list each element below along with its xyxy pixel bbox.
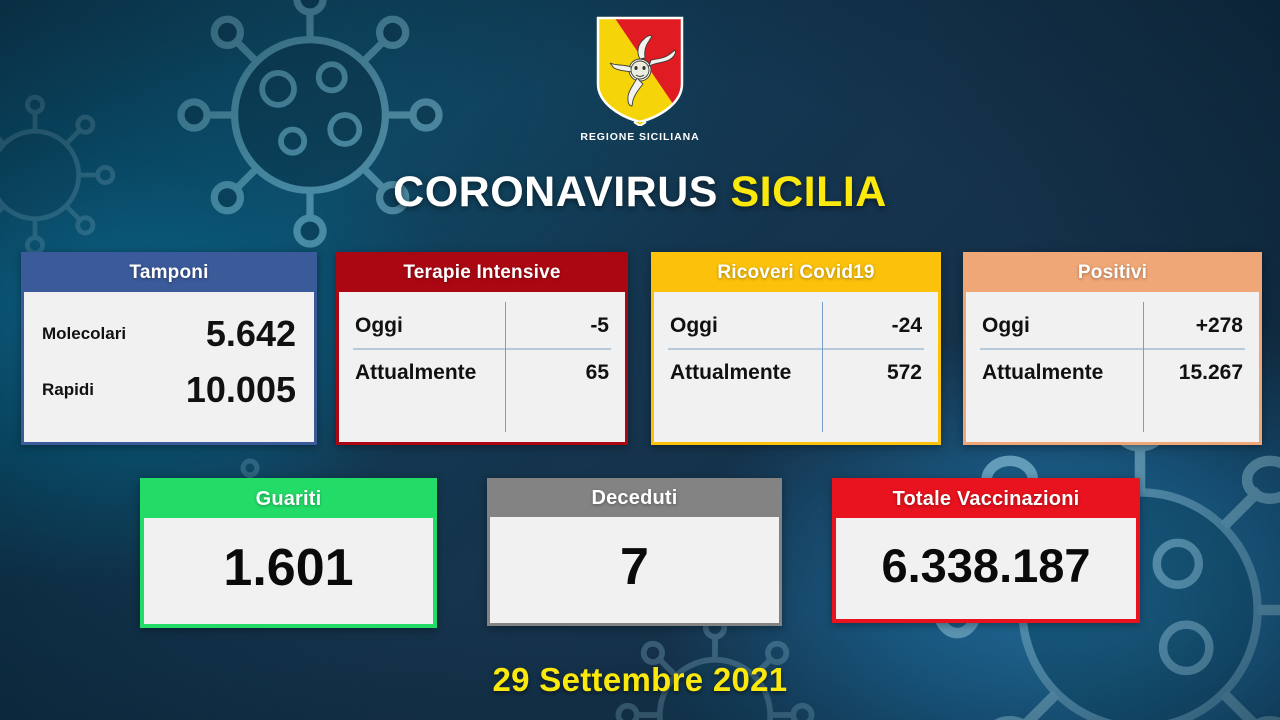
stat-label: Oggi — [670, 314, 848, 338]
stat-card-guariti[interactable]: Guariti 1.601 — [140, 478, 437, 628]
stat-label: Oggi — [982, 314, 1153, 338]
stat-label: Attualmente — [982, 361, 1153, 385]
stat-card-positivi[interactable]: Positivi Oggi +278 Attualmente 15.267 — [963, 252, 1262, 445]
card-title: Guariti — [144, 482, 433, 518]
card-title: Terapie Intensive — [339, 255, 625, 292]
card-body: Oggi +278 Attualmente 15.267 — [966, 292, 1259, 442]
stat-value: 15.267 — [1153, 361, 1243, 385]
stat-row: Attualmente 15.267 — [982, 349, 1243, 396]
stat-card-tamponi[interactable]: Tamponi Molecolari 5.642 Rapidi 10.005 — [21, 252, 317, 445]
stat-value: 65 — [535, 361, 609, 385]
card-title: Deceduti — [490, 481, 779, 517]
title-accent: SICILIA — [730, 168, 886, 216]
stat-value: 10.005 — [186, 369, 296, 411]
stat-card-ricoveri-covid19[interactable]: Ricoveri Covid19 Oggi -24 Attualmente 57… — [651, 252, 941, 445]
infographic-root: REGIONE SICILIANA CORONAVIRUS SICILIA Ta… — [0, 0, 1280, 720]
stat-value: 572 — [848, 361, 922, 385]
footer-date: 29 Settembre 2021 — [0, 661, 1280, 699]
card-body: 7 — [490, 517, 779, 623]
stat-row: Oggi -5 — [355, 302, 609, 349]
stat-value: -5 — [535, 314, 609, 338]
stat-row: Rapidi 10.005 — [42, 362, 296, 418]
stat-card-terapie-intensive[interactable]: Terapie Intensive Oggi -5 Attualmente 65 — [336, 252, 628, 445]
stat-value: +278 — [1153, 314, 1243, 338]
card-title: Totale Vaccinazioni — [836, 482, 1136, 518]
stat-value: 7 — [490, 517, 779, 623]
page-title: CORONAVIRUS SICILIA — [0, 168, 1280, 217]
stat-value: -24 — [848, 314, 922, 338]
card-title: Positivi — [966, 255, 1259, 292]
card-title: Tamponi — [24, 255, 314, 292]
stat-label: Attualmente — [670, 361, 848, 385]
stat-value: 5.642 — [206, 313, 296, 355]
card-body: 6.338.187 — [836, 518, 1136, 619]
stat-row: Attualmente 65 — [355, 349, 609, 396]
emblem-caption: REGIONE SICILIANA — [580, 131, 699, 143]
stat-label: Molecolari — [42, 324, 206, 344]
card-body: Oggi -24 Attualmente 572 — [654, 292, 938, 442]
stat-row: Molecolari 5.642 — [42, 306, 296, 362]
card-title: Ricoveri Covid19 — [654, 255, 938, 292]
sicily-trinacria-emblem-icon — [592, 14, 688, 126]
card-body: Molecolari 5.642 Rapidi 10.005 — [24, 292, 314, 442]
stat-label: Attualmente — [355, 361, 535, 385]
stat-label: Rapidi — [42, 380, 186, 400]
stat-row: Oggi -24 — [670, 302, 922, 349]
stat-row: Oggi +278 — [982, 302, 1243, 349]
emblem-block: REGIONE SICILIANA — [0, 14, 1280, 143]
stat-row: Attualmente 572 — [670, 349, 922, 396]
card-body: Oggi -5 Attualmente 65 — [339, 292, 625, 442]
stat-value: 1.601 — [144, 518, 433, 624]
stats-row-secondary: Guariti 1.601 Deceduti 7 Totale Vaccinaz… — [0, 478, 1280, 648]
stat-card-deceduti[interactable]: Deceduti 7 — [487, 478, 782, 626]
card-body: 1.601 — [144, 518, 433, 624]
stat-label: Oggi — [355, 314, 535, 338]
stat-value: 6.338.187 — [836, 518, 1136, 619]
title-main: CORONAVIRUS — [393, 168, 718, 216]
stats-row-primary: Tamponi Molecolari 5.642 Rapidi 10.005 T… — [0, 252, 1280, 444]
stat-card-totale-vaccinazioni[interactable]: Totale Vaccinazioni 6.338.187 — [832, 478, 1140, 623]
